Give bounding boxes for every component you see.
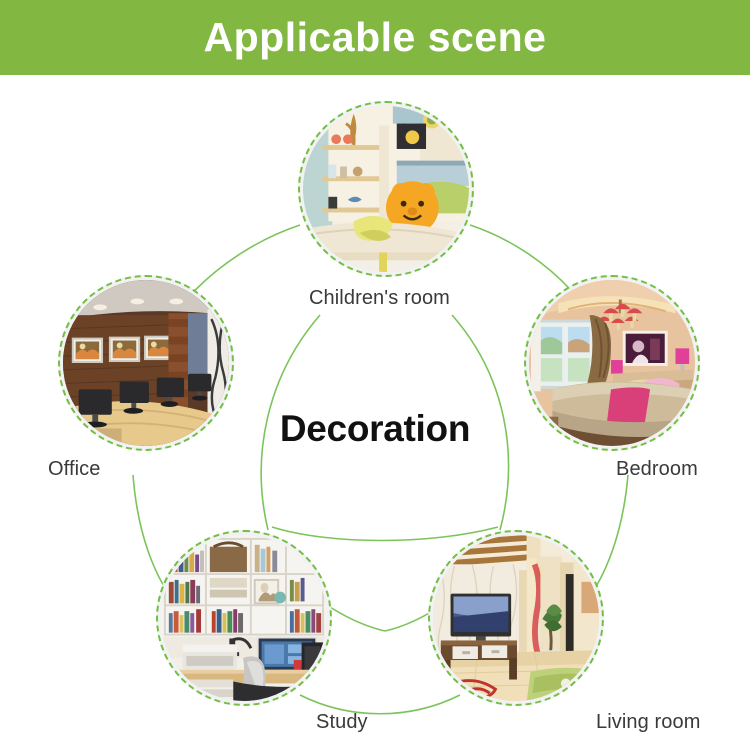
office-photo <box>63 280 229 446</box>
node-bedroom[interactable]: Bedroom <box>524 275 700 451</box>
study-label: Study <box>316 711 368 734</box>
children-room-label: Children's room <box>309 287 450 310</box>
bedroom-label: Bedroom <box>616 458 698 481</box>
node-study[interactable]: Study <box>156 530 332 706</box>
study-circle[interactable] <box>156 530 332 706</box>
node-living-room[interactable]: Living room <box>428 530 604 706</box>
office-label: Office <box>48 458 100 481</box>
node-office[interactable]: Office <box>58 275 234 451</box>
page-title: Applicable scene <box>204 17 547 58</box>
bedroom-circle[interactable] <box>524 275 700 451</box>
header-bar: Applicable scene <box>0 0 750 75</box>
living-room-label: Living room <box>596 711 700 734</box>
children-room-circle[interactable] <box>298 101 474 277</box>
diagram-stage: Decoration <box>0 75 750 750</box>
living-room-photo <box>433 535 599 701</box>
bedroom-photo <box>529 280 695 446</box>
living-room-circle[interactable] <box>428 530 604 706</box>
study-photo <box>161 535 327 701</box>
office-circle[interactable] <box>58 275 234 451</box>
node-children-room[interactable]: Children's room <box>298 101 474 277</box>
children-room-photo <box>303 106 469 272</box>
applicable-scene-infographic: Applicable scene Decoration <box>0 0 750 750</box>
